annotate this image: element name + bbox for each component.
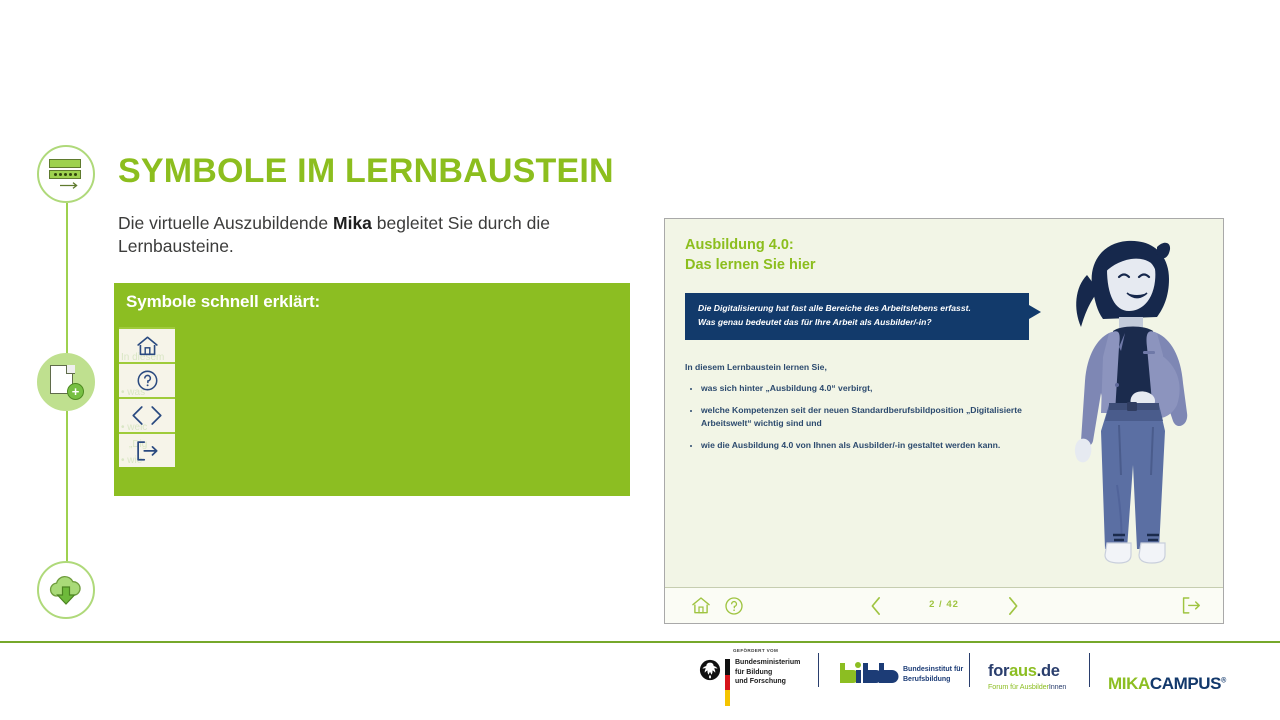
- course-heading: Ausbildung 4.0: Das lernen Sie hier: [685, 236, 816, 275]
- page-separator: /: [939, 599, 943, 610]
- course-lead-text: In diesem Lernbaustein lernen Sie,: [685, 362, 827, 372]
- funded-by-label: GEFÖRDERT VOM: [733, 648, 778, 653]
- legend-row-help[interactable]: [119, 363, 175, 398]
- course-heading-line1: Ausbildung 4.0:: [685, 236, 816, 256]
- legend-label-home: Zurück zur Kapitelübersicht im Lernbaust…: [286, 615, 627, 636]
- federal-eagle-icon: [699, 659, 721, 681]
- speech-bubble-tail: [1029, 305, 1041, 319]
- bmbf-line1: Bundesministerium: [735, 658, 800, 668]
- bmbf-line3: und Forschung: [735, 677, 800, 687]
- footer-logos: GEFÖRDERT VOM Bundesministerium für Bild…: [0, 645, 1280, 720]
- legend-row-exit[interactable]: [119, 433, 175, 468]
- speech-bubble-line1: Die Digitalisierung hat fast alle Bereic…: [698, 302, 1019, 316]
- bmbf-wordmark: Bundesministerium für Bildung und Forsch…: [735, 658, 800, 687]
- prev-next-icon: [129, 405, 165, 426]
- speech-bubble-line2: Was genau bedeutet das für Ihre Arbeit a…: [698, 316, 1019, 330]
- foraus-wordmark: foraus.de: [988, 662, 1066, 681]
- mikacampus-campus: CAMPUS: [1150, 674, 1221, 693]
- mikacampus-logo: MIKACAMPUS®: [1108, 674, 1226, 694]
- foraus-tagline: Forum für AusbilderInnen: [988, 682, 1066, 691]
- registered-mark: ®: [1221, 677, 1226, 684]
- footer-separator-1: [818, 653, 819, 687]
- page-indicator: 2 / 42: [665, 599, 1223, 610]
- intro-paragraph: Die virtuelle Auszubildende Mika begleit…: [118, 212, 638, 259]
- mikacampus-mika: MIKA: [1108, 674, 1150, 693]
- rail-node-cloud-download[interactable]: [37, 561, 95, 619]
- course-navbar: 2 / 42: [665, 587, 1223, 623]
- progress-rail: +: [0, 0, 115, 645]
- course-bullet-list: was sich hinter „Ausbildung 4.0“ verbirg…: [685, 382, 1035, 462]
- course-heading-line2: Das lernen Sie hier: [685, 256, 816, 276]
- bibb-line1: Bundesinstitut für: [903, 665, 963, 675]
- foraus-aus: aus: [1009, 662, 1037, 680]
- login-form-icon: [49, 159, 83, 189]
- rail-connector-1: [66, 203, 68, 355]
- legend-row-prev-next[interactable]: [119, 398, 175, 433]
- foraus-logo: foraus.de Forum für AusbilderInnen: [988, 662, 1066, 691]
- course-screenshot: Ausbildung 4.0: Das lernen Sie hier Die …: [664, 218, 1224, 624]
- footer-separator-3: [1089, 653, 1090, 687]
- page-total: 42: [946, 599, 959, 610]
- german-flag-stripe: [725, 659, 730, 706]
- bmbf-line2: für Bildung: [735, 668, 800, 678]
- slide-canvas: + SYMBOLE IM LERNBAUSTEIN Die virtuelle …: [0, 0, 1280, 720]
- bibb-wordmark: Bundesinstitut für Berufsbildung: [903, 665, 963, 684]
- foraus-tagline-post: Innen: [1049, 682, 1067, 691]
- footer-separator-2: [969, 653, 970, 687]
- speech-bubble-text: Die Digitalisierung hat fast alle Bereic…: [698, 302, 1019, 330]
- legend-row-home[interactable]: [119, 328, 175, 363]
- home-icon: [136, 335, 159, 357]
- exit-icon: [135, 440, 160, 462]
- cloud-download-icon: [46, 574, 86, 606]
- mika-illustration: [1057, 235, 1209, 583]
- page-title: SYMBOLE IM LERNBAUSTEIN: [118, 152, 614, 191]
- symbol-legend-heading: Symbole schnell erklärt:: [126, 292, 320, 312]
- foraus-de: .de: [1037, 662, 1060, 680]
- foraus-for: for: [988, 662, 1009, 680]
- help-circle-icon: [136, 369, 159, 392]
- document-add-icon: +: [48, 364, 84, 400]
- exit-icon[interactable]: [1181, 596, 1202, 615]
- foraus-tagline-pre: Forum für Ausbilder: [988, 682, 1049, 691]
- rail-connector-2: [66, 411, 68, 563]
- rail-node-login-form[interactable]: [37, 145, 95, 203]
- speech-bubble: Die Digitalisierung hat fast alle Bereic…: [685, 293, 1029, 340]
- bibb-logo-icon: [836, 661, 900, 685]
- intro-text-bold: Mika: [333, 213, 372, 233]
- page-current: 2: [929, 599, 935, 610]
- footer-divider: [0, 641, 1280, 643]
- list-item: was sich hinter „Ausbildung 4.0“ verbirg…: [701, 382, 1035, 394]
- intro-text-before: Die virtuelle Auszubildende: [118, 213, 333, 233]
- bibb-line2: Berufsbildung: [903, 675, 963, 685]
- list-item: wie die Ausbildung 4.0 von Ihnen als Aus…: [701, 439, 1035, 451]
- list-item: welche Kompetenzen seit der neuen Standa…: [701, 404, 1035, 429]
- symbol-legend-panel: Symbole schnell erklärt: In diesem • was…: [114, 283, 630, 496]
- rail-node-document-add[interactable]: +: [37, 353, 95, 411]
